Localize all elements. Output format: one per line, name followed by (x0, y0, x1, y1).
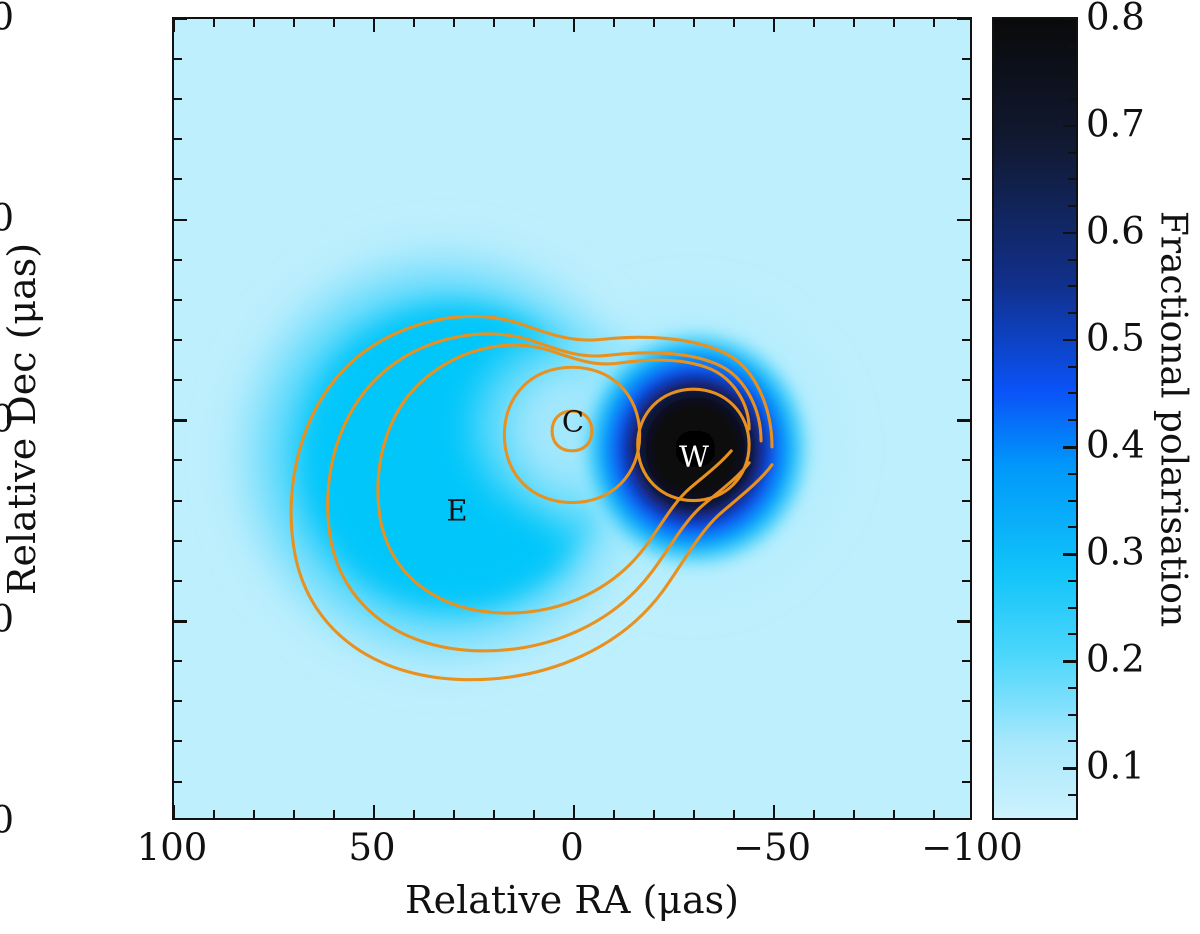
x-tick (853, 810, 855, 818)
y-tick (957, 18, 970, 21)
y-tick (174, 580, 182, 582)
colorbar-tick (1063, 660, 1076, 663)
y-tick (174, 419, 187, 422)
colorbar-tick-label: 0.5 (1086, 317, 1145, 360)
x-tick (293, 19, 295, 27)
y-tick (174, 178, 182, 180)
x-tick (493, 810, 495, 818)
y-tick (174, 740, 182, 742)
colorbar-tick-label: 0.6 (1086, 210, 1145, 253)
x-tick (653, 19, 655, 27)
x-tick (373, 805, 376, 818)
y-tick-label: 0 (0, 397, 14, 440)
y-tick (174, 540, 182, 542)
x-tick (173, 805, 176, 818)
x-tick (253, 19, 255, 27)
y-tick (962, 580, 970, 582)
component-labels: E C W (174, 19, 970, 818)
colorbar-tick (1063, 125, 1076, 128)
y-tick (174, 379, 182, 381)
y-tick-label: −50 (0, 598, 14, 641)
y-tick (962, 781, 970, 783)
x-tick (253, 810, 255, 818)
colorbar-tick (1063, 446, 1076, 449)
colorbar-tick (1068, 580, 1076, 582)
colorbar-tick (1068, 526, 1076, 528)
x-tick (173, 19, 176, 32)
y-tick (962, 138, 970, 140)
colorbar-tick (1068, 366, 1076, 368)
x-tick (413, 810, 415, 818)
x-tick (613, 810, 615, 818)
colorbar-tick (1068, 285, 1076, 287)
colorbar-tick (1068, 419, 1076, 421)
y-tick (962, 740, 970, 742)
x-tick (613, 19, 615, 27)
y-tick (962, 178, 970, 180)
x-tick (933, 19, 935, 27)
colorbar-label: Fractional polarisation (1153, 210, 1194, 626)
y-tick (962, 98, 970, 100)
y-tick (962, 58, 970, 60)
colorbar-tick (1063, 767, 1076, 770)
polarisation-map-plot: E C W (172, 17, 972, 820)
colorbar-tick-label: 0.2 (1086, 638, 1145, 681)
y-tick (962, 459, 970, 461)
component-label-c: C (562, 408, 584, 437)
x-tick (293, 810, 295, 818)
y-tick (174, 259, 182, 261)
x-tick (813, 810, 815, 818)
y-tick (957, 620, 970, 623)
x-tick-label: −50 (733, 826, 811, 869)
x-tick-label: 100 (137, 826, 208, 869)
y-tick (174, 138, 182, 140)
colorbar-tick-label: 0.8 (1086, 0, 1145, 39)
y-tick (962, 339, 970, 341)
x-tick (693, 810, 695, 818)
y-tick (174, 98, 182, 100)
colorbar-tick (1068, 740, 1076, 742)
y-tick (174, 219, 187, 222)
figure-root: Relative Dec (μas) (0, 0, 1200, 934)
colorbar-tick (1068, 178, 1076, 180)
y-tick-label: 50 (0, 196, 14, 239)
colorbar-tick-label: 0.3 (1086, 531, 1145, 574)
y-tick (174, 781, 182, 783)
x-tick (373, 19, 376, 32)
x-tick (733, 810, 735, 818)
x-axis-label: Relative RA (μas) (172, 878, 972, 922)
y-tick (174, 620, 187, 623)
colorbar-tick (1068, 259, 1076, 261)
x-tick (533, 19, 535, 27)
x-tick (213, 810, 215, 818)
y-tick (962, 540, 970, 542)
x-tick (333, 19, 335, 27)
x-tick-label: 0 (560, 826, 584, 869)
y-tick (174, 339, 182, 341)
colorbar-tick (1068, 607, 1076, 609)
x-tick (813, 19, 815, 27)
colorbar-tick-label: 0.7 (1086, 103, 1145, 146)
colorbar-tick (1068, 152, 1076, 154)
colorbar-tick (1068, 205, 1076, 207)
colorbar-tick (1063, 339, 1076, 342)
x-tick-label: −100 (921, 826, 1023, 869)
colorbar-tick (1068, 392, 1076, 394)
x-tick (573, 805, 576, 818)
x-tick (573, 19, 576, 32)
x-tick-label: 50 (348, 826, 395, 869)
x-tick (493, 19, 495, 27)
colorbar-tick (1068, 687, 1076, 689)
y-tick (962, 299, 970, 301)
y-tick (962, 259, 970, 261)
y-tick (962, 500, 970, 502)
x-tick (213, 19, 215, 27)
colorbar-tick (1063, 232, 1076, 235)
colorbar-tick-label: 0.4 (1086, 424, 1145, 467)
x-tick (453, 810, 455, 818)
colorbar-tick (1068, 473, 1076, 475)
x-tick (693, 19, 695, 27)
x-tick (413, 19, 415, 27)
x-tick (453, 19, 455, 27)
colorbar-tick (1068, 794, 1076, 796)
y-tick (962, 379, 970, 381)
y-tick (962, 700, 970, 702)
colorbar-tick (1068, 71, 1076, 73)
x-tick (533, 810, 535, 818)
component-label-e: E (446, 497, 467, 526)
x-tick (653, 810, 655, 818)
colorbar (992, 17, 1078, 820)
colorbar-gradient (994, 19, 1076, 818)
colorbar-tick (1068, 714, 1076, 716)
y-tick-label: −100 (0, 799, 14, 842)
y-tick (174, 660, 182, 662)
x-tick (893, 19, 895, 27)
y-tick (174, 500, 182, 502)
y-tick (174, 58, 182, 60)
colorbar-tick (1068, 312, 1076, 314)
y-tick (174, 459, 182, 461)
colorbar-tick (1068, 500, 1076, 502)
colorbar-tick (1063, 553, 1076, 556)
y-tick (962, 660, 970, 662)
colorbar-tick (1068, 45, 1076, 47)
colorbar-tick (1068, 633, 1076, 635)
x-tick (733, 19, 735, 27)
y-tick (957, 219, 970, 222)
x-tick (333, 810, 335, 818)
x-tick (773, 19, 776, 32)
colorbar-tick (1063, 18, 1076, 21)
x-tick (893, 810, 895, 818)
x-tick (773, 805, 776, 818)
colorbar-tick (1068, 98, 1076, 100)
y-tick (174, 299, 182, 301)
y-tick (174, 18, 187, 21)
component-label-w: W (679, 443, 709, 472)
y-tick (174, 700, 182, 702)
colorbar-tick-label: 0.1 (1086, 745, 1145, 788)
x-tick (933, 810, 935, 818)
x-tick (853, 19, 855, 27)
y-tick-label: 100 (0, 0, 14, 39)
y-tick (957, 419, 970, 422)
colorbar-label-container: Fractional polarisation (1146, 17, 1200, 820)
